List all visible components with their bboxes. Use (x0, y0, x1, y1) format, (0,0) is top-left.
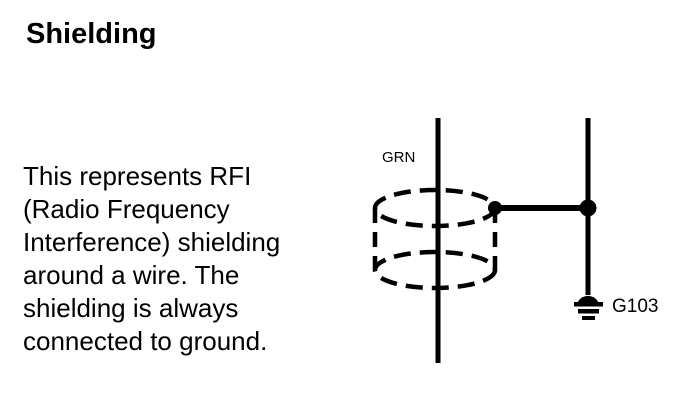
body-line-3: Interference) shielding (23, 226, 343, 259)
body-line-2: (Radio Frequency (23, 193, 343, 226)
ground-icon (574, 296, 603, 320)
ground-bar-1 (574, 302, 603, 307)
shielding-diagram: GRN G103 (350, 95, 688, 385)
wire-color-label: GRN (382, 149, 415, 166)
page-title: Shielding (26, 17, 157, 51)
ground-reference-label: G103 (612, 296, 658, 317)
shield-bottom-ellipse (375, 252, 495, 288)
body-line-6: connected to ground. (23, 325, 343, 358)
body-paragraph: This represents RFI (Radio Frequency Int… (23, 160, 343, 358)
shield-junction-dot (488, 201, 502, 215)
shield-top-ellipse (375, 190, 495, 226)
body-line-4: around a wire. The (23, 259, 343, 292)
slide-canvas: Shielding This represents RFI (Radio Fre… (0, 0, 688, 412)
ground-bar-2 (578, 309, 599, 314)
ground-junction-dot (580, 200, 597, 217)
diagram-svg: GRN G103 (350, 95, 688, 385)
ground-bar-3 (582, 316, 595, 320)
body-line-5: shielding is always (23, 292, 343, 325)
body-line-1: This represents RFI (23, 160, 343, 193)
